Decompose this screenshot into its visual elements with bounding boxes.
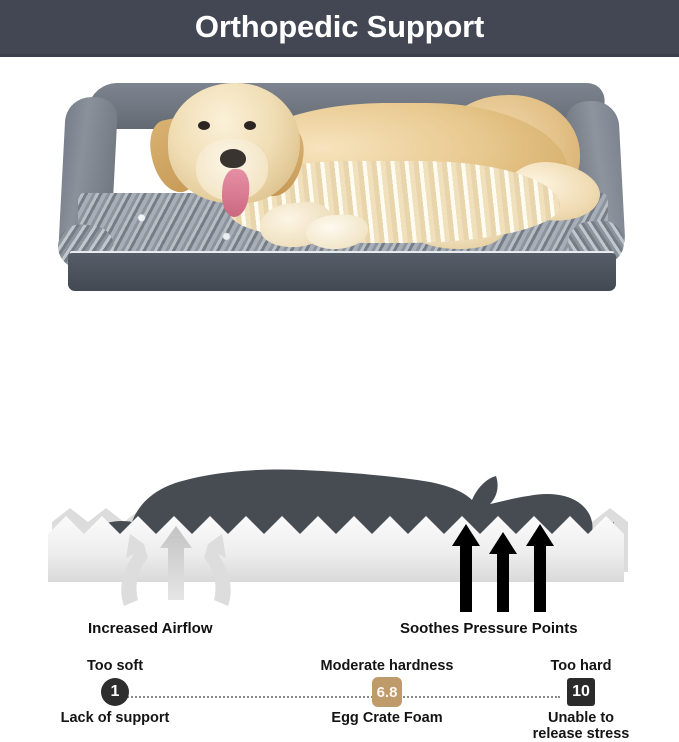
- dog-eye-left: [198, 121, 210, 130]
- scale-badge-10: 10: [567, 678, 595, 706]
- scale-badge-wrap: 6.8: [297, 677, 477, 707]
- scale-badge-wrap: 1: [25, 677, 205, 707]
- header-banner: Orthopedic Support: [0, 0, 679, 54]
- scale-top-label: Too soft: [25, 658, 205, 674]
- caption-increased-airflow: Increased Airflow: [88, 620, 212, 637]
- hardness-scale: Too soft 1 Lack of support Moderate hard…: [0, 326, 679, 426]
- scale-badge-68: 6.8: [372, 677, 402, 707]
- foam-diagram: Increased Airflow Soothes Pressure Point…: [0, 430, 679, 654]
- scale-bottom-label: Egg Crate Foam: [297, 710, 477, 726]
- golden-retriever: [110, 77, 580, 267]
- scale-badge-wrap: 10: [491, 677, 671, 707]
- scale-stop-too-hard: Too hard 10 Unable to release stress: [491, 658, 671, 742]
- dog-eye-right: [244, 121, 256, 130]
- dog-nose: [220, 149, 246, 168]
- product-photo: [0, 57, 679, 315]
- scale-badge-1: 1: [101, 678, 129, 706]
- scale-bottom-label: Unable to release stress: [491, 710, 671, 742]
- dog-bed-illustration: [52, 75, 630, 305]
- caption-soothes-pressure-points: Soothes Pressure Points: [400, 620, 578, 637]
- scale-stop-too-soft: Too soft 1 Lack of support: [25, 658, 205, 726]
- scale-top-label: Too hard: [491, 658, 671, 674]
- foam-cross-section-svg: [0, 430, 679, 620]
- scale-stop-moderate: Moderate hardness 6.8 Egg Crate Foam: [297, 658, 477, 726]
- scale-top-label: Moderate hardness: [297, 658, 477, 674]
- page-title: Orthopedic Support: [195, 9, 484, 45]
- scale-bottom-label: Lack of support: [25, 710, 205, 726]
